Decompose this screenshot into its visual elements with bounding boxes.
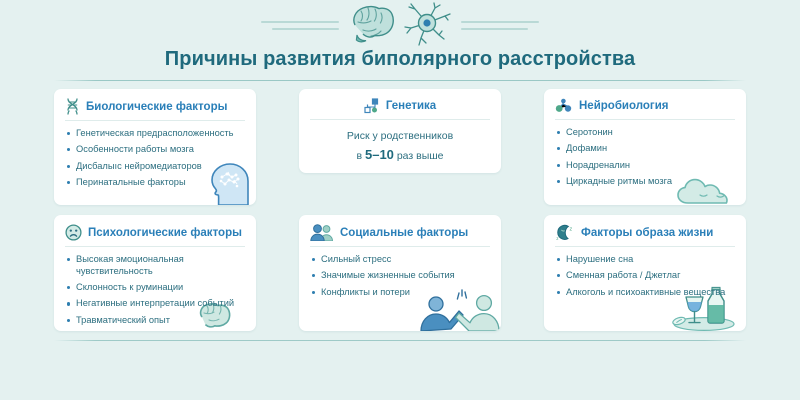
card-bullet-list: Сильный стресс Значимые жизненные событи…	[310, 254, 490, 298]
list-item: Высокая эмоциональная чувствительность	[65, 254, 245, 278]
genetics-prefix: в	[356, 150, 365, 162]
card-header: Психологические факторы	[65, 224, 245, 247]
cards-grid: Биологические факторы Генетическая предр…	[54, 89, 746, 331]
moon-sleep-icon: z z	[555, 224, 575, 241]
decorative-lines-right-icon	[461, 21, 539, 30]
list-item: Генетическая предрасположенность	[65, 128, 245, 140]
card-title: Факторы образа жизни	[581, 227, 713, 239]
card-genetics[interactable]: Генетика Риск у родственников в 5–10 раз…	[299, 89, 501, 173]
list-item: Негативные интерпретации событий	[65, 298, 245, 310]
card-header: Биологические факторы	[65, 98, 245, 121]
genetics-risk-text: Риск у родственников в 5–10 раз выше	[310, 129, 490, 165]
page-title-wrap: Причины развития биполярного расстройств…	[0, 48, 800, 71]
list-item: Травматический опыт	[65, 315, 245, 327]
list-item: Сильный стресс	[310, 254, 490, 266]
list-item: Серотонин	[555, 127, 735, 139]
list-item: Особенности работы мозга	[65, 144, 245, 156]
header-banner	[0, 0, 800, 50]
sad-face-icon	[65, 224, 82, 241]
two-people-icon	[310, 224, 334, 241]
card-lifestyle[interactable]: z z Факторы образа жизни Нарушение сна С…	[544, 215, 746, 331]
list-item: Циркадные ритмы мозга	[555, 176, 735, 188]
list-item: Конфликты и потери	[310, 287, 490, 299]
card-biological[interactable]: Биологические факторы Генетическая предр…	[54, 89, 256, 205]
svg-text:z: z	[570, 226, 573, 232]
molecule-icon	[555, 98, 573, 114]
card-neurobiology[interactable]: Нейробиология Серотонин Дофамин Норадрен…	[544, 89, 746, 205]
brain-icon	[347, 3, 397, 47]
list-item: Дофамин	[555, 143, 735, 155]
header-icons	[347, 2, 453, 48]
list-item: Дисбалыıс нейромедиаторов	[65, 161, 245, 173]
card-social[interactable]: Социальные факторы Сильный стресс Значим…	[299, 215, 501, 331]
neuron-icon	[401, 2, 453, 48]
card-psychological[interactable]: Психологические факторы Высокая эмоциона…	[54, 215, 256, 331]
page-title: Причины развития биполярного расстройств…	[0, 48, 800, 71]
card-header: z z Факторы образа жизни	[555, 224, 735, 247]
decorative-lines-left-icon	[261, 21, 339, 30]
card-title: Биологические факторы	[86, 101, 227, 113]
card-title: Психологические факторы	[88, 227, 242, 239]
genetics-highlight: 5–10	[365, 147, 394, 162]
footer-divider	[54, 340, 746, 341]
family-tree-icon	[364, 98, 380, 114]
list-item: Склонность к руминации	[65, 282, 245, 294]
card-bullet-list: Нарушение сна Сменная работа / Джетлаг А…	[555, 254, 735, 298]
card-bullet-list: Генетическая предрасположенность Особенн…	[65, 128, 245, 189]
dna-icon	[65, 98, 80, 115]
list-item: Норадреналин	[555, 160, 735, 172]
list-item: Алкоголь и психоактивные вещества	[555, 287, 735, 299]
card-title: Нейробиология	[579, 100, 668, 112]
list-item: Сменная работа / Джетлаг	[555, 270, 735, 282]
genetics-line-2: в 5–10 раз выше	[310, 145, 490, 165]
card-header: Социальные факторы	[310, 224, 490, 247]
card-bullet-list: Высокая эмоциональная чувствительность С…	[65, 254, 245, 327]
genetics-line-1: Риск у родственников	[310, 129, 490, 145]
genetics-suffix: раз выше	[394, 150, 444, 162]
list-item: Нарушение сна	[555, 254, 735, 266]
card-bullet-list: Серотонин Дофамин Норадреналин Циркадные…	[555, 127, 735, 188]
list-item: Значимые жизненные события	[310, 270, 490, 282]
card-header: Генетика	[310, 98, 490, 120]
card-title: Генетика	[386, 100, 436, 112]
card-header: Нейробиология	[555, 98, 735, 120]
card-title: Социальные факторы	[340, 227, 468, 239]
list-item: Перинатальные факторы	[65, 177, 245, 189]
title-divider	[54, 80, 746, 81]
